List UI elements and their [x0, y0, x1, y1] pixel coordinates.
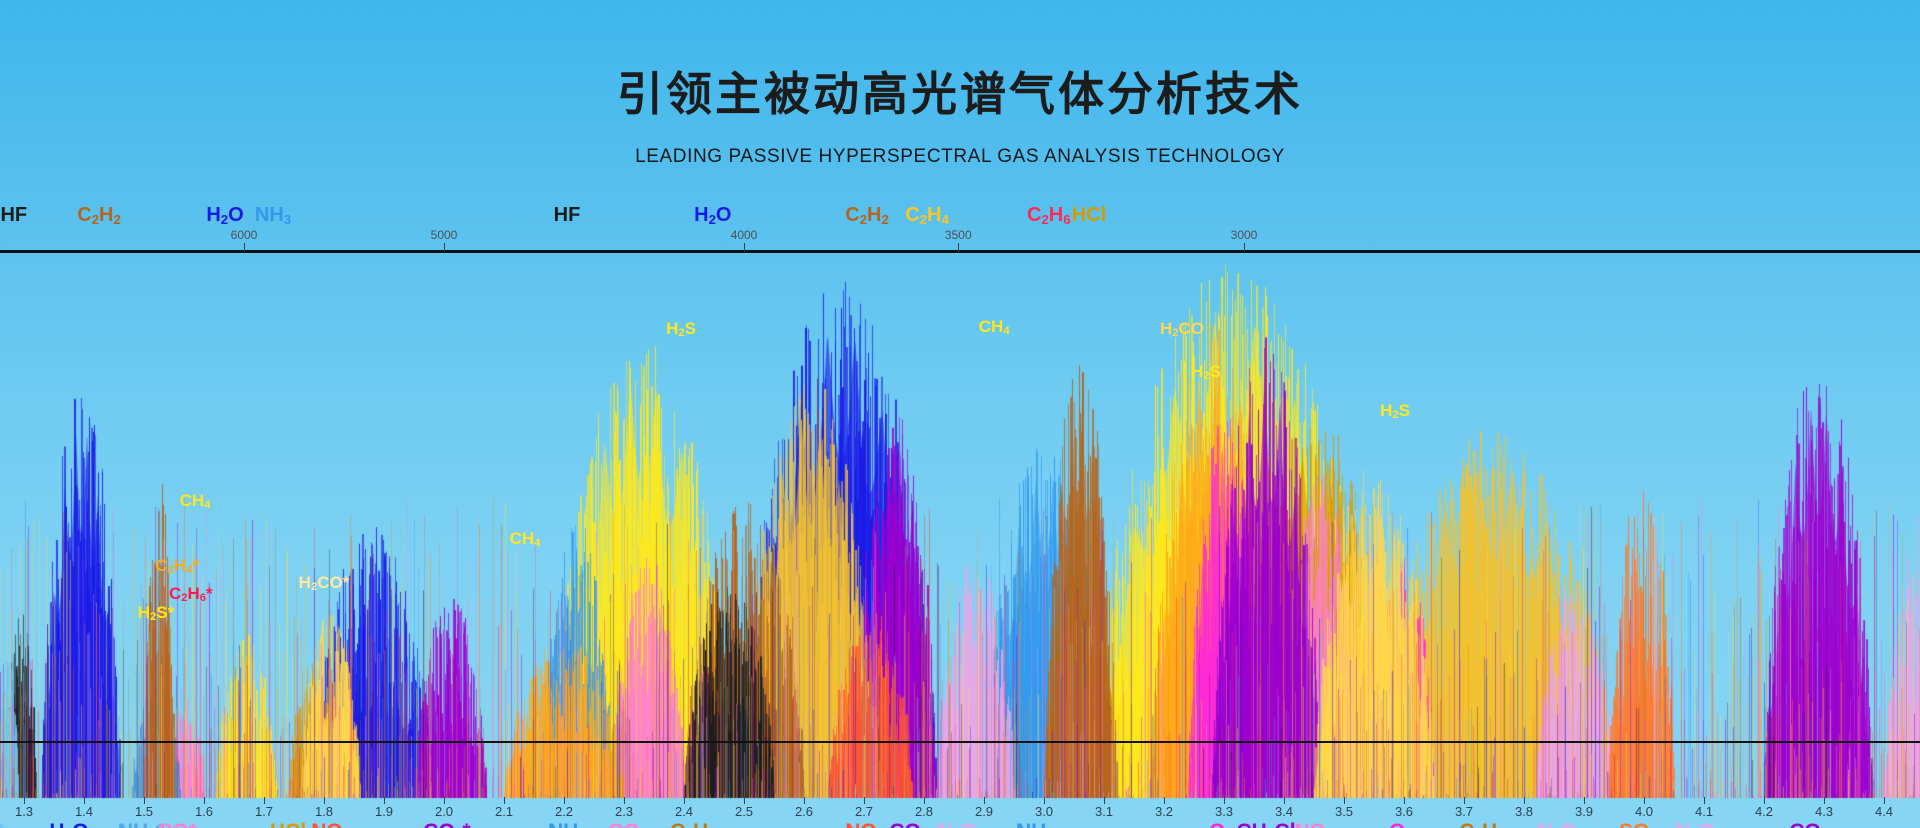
bottom-axis-tick [1164, 797, 1165, 804]
bottom-axis-tick [564, 797, 565, 804]
gas-label-c2h4: C2H4 [905, 204, 949, 227]
bottom-axis-tick [504, 797, 505, 804]
bottom-axis-tick-label: 3.9 [1575, 804, 1593, 819]
bottom-axis-tick [1524, 797, 1525, 804]
bottom-axis-tick [984, 797, 985, 804]
bottom-axis-tick-label: 3.4 [1275, 804, 1293, 819]
bottom-axis-tick-label: 1.5 [135, 804, 153, 819]
bottom-axis-tick [1284, 797, 1285, 804]
gas-label-co2: CO2* [423, 820, 470, 828]
top-axis-tick [958, 243, 959, 252]
gas-label-n2o: N2O [1537, 820, 1576, 828]
gas-label-h2o: H2O [694, 204, 731, 227]
gas-label-n2o: N2O [937, 820, 976, 828]
bottom-axis-tick-label: 1.4 [75, 804, 93, 819]
bottom-axis-tick [1584, 797, 1585, 804]
top-axis-tick [444, 243, 445, 252]
bottom-axis-tick [804, 797, 805, 804]
gas-label-ch3cl: CH3Cl [1236, 820, 1295, 828]
bottom-axis-tick-label: 2.9 [975, 804, 993, 819]
bottom-axis-tick-label: 3.5 [1335, 804, 1353, 819]
gas-label-nh3: NH3 [548, 820, 586, 828]
gas-label-no: NO [311, 820, 343, 828]
bottom-axis-tick-label: 2.2 [555, 804, 573, 819]
bottom-axis-tick [264, 797, 265, 804]
top-axis-tick [1244, 243, 1245, 252]
bottom-axis-tick [924, 797, 925, 804]
bottom-axis-tick-label: 2.5 [735, 804, 753, 819]
bottom-axis-tick-label: 4.1 [1695, 804, 1713, 819]
bottom-axis-tick-label: 4.3 [1815, 804, 1833, 819]
bottom-axis-tick [1644, 797, 1645, 804]
top-axis-tick [744, 243, 745, 252]
bottom-axis-tick [24, 797, 25, 804]
bottom-axis-tick-label: 3.2 [1155, 804, 1173, 819]
gas-label-h2o: H2O [206, 204, 243, 227]
bottom-axis-tick-label: 4.0 [1635, 804, 1653, 819]
gas-label-c2h6: C2H6 [1027, 204, 1071, 227]
bottom-axis-tick [444, 797, 445, 804]
gas-label-c2h2: C2H2 [670, 820, 716, 828]
bottom-axis-tick-label: 2.7 [855, 804, 873, 819]
gas-label-o2: O2 [0, 820, 13, 828]
gas-label-c2h2: C2H2 [77, 204, 121, 227]
bottom-axis-tick-label: 2.0 [435, 804, 453, 819]
bottom-axis-tick [864, 797, 865, 804]
bottom-axis-tick-label: 1.6 [195, 804, 213, 819]
gas-label-hcl: HCl [270, 820, 306, 828]
bottom-axis-tick [384, 797, 385, 804]
bottom-axis-tick [1704, 797, 1705, 804]
bottom-axis-tick-label: 4.2 [1755, 804, 1773, 819]
bottom-axis-tick-label: 1.8 [315, 804, 333, 819]
bottom-axis-tick-label: 3.3 [1215, 804, 1233, 819]
bottom-axis-tick-label: 3.7 [1455, 804, 1473, 819]
gas-label-h2o: H2O [49, 820, 88, 828]
page-title: 引领主被动高光谱气体分析技术 [0, 58, 1920, 124]
bottom-axis-tick [84, 797, 85, 804]
gas-label-co2: CO2 [1789, 820, 1828, 828]
top-axis-tick [244, 243, 245, 252]
bottom-axis-tick-label: 2.3 [615, 804, 633, 819]
page-subtitle: LEADING PASSIVE HYPERSPECTRAL GAS ANALYS… [0, 146, 1920, 168]
bottom-axis-tick [1764, 797, 1765, 804]
bottom-axis-tick [204, 797, 205, 804]
top-gas-label-row: HFC2H2H2ONH3HFH2OC2H2C2H4C2H6HCl [0, 196, 1920, 236]
bottom-axis-tick [744, 797, 745, 804]
bottom-axis-tick [144, 797, 145, 804]
bottom-axis-tick [324, 797, 325, 804]
bottom-axis-tick [1884, 797, 1885, 804]
gas-label-co: CO* [157, 820, 197, 828]
bottom-axis-tick-label: 1.9 [375, 804, 393, 819]
bottom-axis-tick [1344, 797, 1345, 804]
gas-label-hf: HF [554, 204, 581, 227]
gas-label-o3: O3 [1389, 820, 1413, 828]
bottom-axis-tick-label: 2.8 [915, 804, 933, 819]
axis-line-bottom [0, 741, 1920, 743]
header-banner: 引领主被动高光谱气体分析技术 LEADING PASSIVE HYPERSPEC… [0, 0, 1920, 196]
spectral-chart: HFC2H2H2ONH3HFH2OC2H2C2H4C2H6HCl 6000500… [0, 196, 1920, 828]
gas-label-hcl: HCl [1072, 204, 1106, 227]
bottom-axis-tick [1104, 797, 1105, 804]
bottom-axis-tick-label: 1.7 [255, 804, 273, 819]
bottom-axis-tick-label: 1.3 [15, 804, 33, 819]
bottom-axis-tick-label: 2.1 [495, 804, 513, 819]
bottom-axis-tick [684, 797, 685, 804]
bottom-axis-tick-label: 2.6 [795, 804, 813, 819]
bottom-axis-tick-label: 3.0 [1035, 804, 1053, 819]
gas-label-no: NO [845, 820, 877, 828]
bottom-axis-tick-label: 2.4 [675, 804, 693, 819]
bottom-axis-tick-label: 3.6 [1395, 804, 1413, 819]
gas-label-c2h2: C2H2 [1459, 820, 1505, 828]
gas-label-o3: O3 [1209, 820, 1233, 828]
bottom-axis-tick-label: 3.8 [1515, 804, 1533, 819]
bottom-axis-tick [624, 797, 625, 804]
bottom-gas-label-row: O2H2ONH3*CO*HClNOCO2*NH3COC2H2NOCO2N2ONH… [0, 820, 1920, 828]
gas-label-n2o: N2O [1675, 820, 1714, 828]
gas-label-co2: CO2 [889, 820, 928, 828]
gas-label-nh3: NH3 [1016, 820, 1054, 828]
gas-label-nh3: NH3 [255, 204, 291, 227]
bottom-axis-tick [1464, 797, 1465, 804]
bottom-axis-tick-label: 4.4 [1875, 804, 1893, 819]
bottom-axis-tick [1224, 797, 1225, 804]
gas-label-c2h2: C2H2 [845, 204, 889, 227]
bottom-axis-tick [1044, 797, 1045, 804]
bottom-axis-tick [1404, 797, 1405, 804]
bottom-axis-tick-label: 3.1 [1095, 804, 1113, 819]
bottom-axis-tick [1824, 797, 1825, 804]
gas-label-co: CO [608, 820, 640, 828]
gas-label-hf: HF [0, 204, 27, 227]
gas-label-no2: NO2 [1294, 820, 1333, 828]
gas-label-so2: SO2 [1619, 820, 1657, 828]
